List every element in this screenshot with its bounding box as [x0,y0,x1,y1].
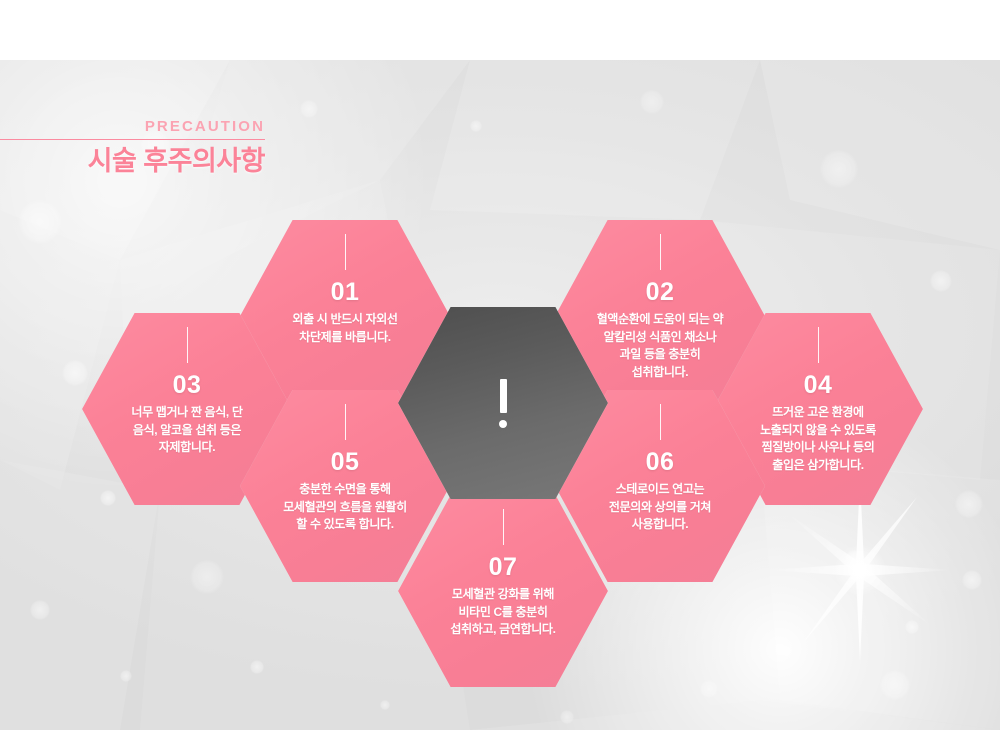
hex-content: 02 혈액순환에 도움이 되는 약 알칼리성 식품인 채소나 과일 등을 충분히… [555,220,765,381]
hex-description: 스테로이드 연고는 전문의와 상의를 거쳐 사용합니다. [555,481,765,534]
hex-tick [503,509,504,545]
hex-description: 외출 시 반드시 자외선 차단제를 바릅니다. [240,311,450,346]
heading-rule [0,139,265,140]
exclamation-dot [499,420,507,428]
hex-content: 01 외출 시 반드시 자외선 차단제를 바릅니다. [240,220,450,346]
hex-tick [187,327,188,363]
heading-eyebrow: PRECAUTION [0,118,265,136]
hex-tick [818,327,819,363]
hexagon-cluster: 01 외출 시 반드시 자외선 차단제를 바릅니다. 02 혈액순환에 도움이 … [0,0,1000,730]
hex-number: 01 [240,279,450,305]
hex-tick [345,234,346,270]
exclamation-icon [499,307,507,499]
page-heading: PRECAUTION 시술 후주의사항 [0,118,420,177]
hex-description: 모세혈관 강화를 위해 비타민 C를 충분히 섭취하고, 금연합니다. [398,586,608,639]
top-white-strip [0,0,1000,60]
exclamation-bar [500,379,507,413]
hex-tick [345,404,346,440]
page-title: 시술 후주의사항 [0,145,265,177]
hex-number: 07 [398,554,608,580]
hex-number: 05 [240,449,450,475]
hex-description: 충분한 수면을 통해 모세혈관의 흐름을 원활히 할 수 있도록 합니다. [240,481,450,534]
hex-number: 06 [555,449,765,475]
hex-number: 04 [713,372,923,398]
hex-number: 03 [82,372,292,398]
hex-tick [660,404,661,440]
hex-number: 02 [555,279,765,305]
hex-tick [660,234,661,270]
